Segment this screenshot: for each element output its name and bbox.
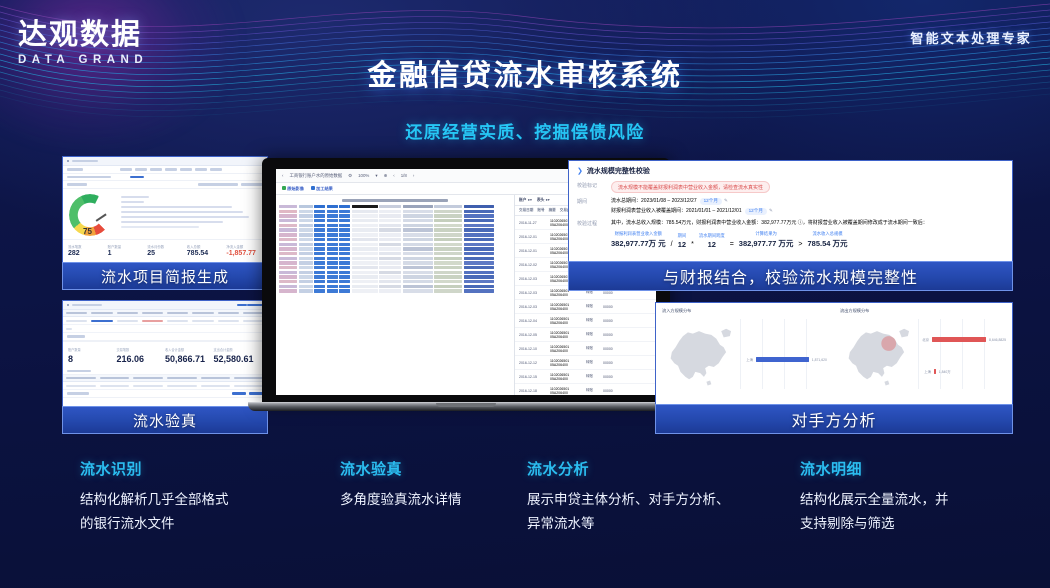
viewer-file-name: 工商银行账户水的原始数据 [289, 173, 342, 179]
metric-item: 收入合计金额50,866.71 [165, 347, 214, 364]
stat-label: 收入总额 [187, 244, 223, 249]
verify-section-heading [63, 333, 267, 341]
screenshot-integrity-dialog[interactable]: ❯ 流水规模完整性校验 校验标记 流水规模不能覆盖财报利润表中营业收入金额，请检… [568, 160, 1013, 263]
dialog-body: ❯ 流水规模完整性校验 校验标记 流水规模不能覆盖财报利润表中营业收入金额，请检… [569, 161, 1012, 262]
caption-brief-report: 流水项目简报生成 [62, 262, 268, 290]
formula-key: 流水期间跨度 [699, 233, 725, 239]
dialog-header: ❯ 流水规模完整性校验 [577, 166, 1004, 176]
bar-inflow [756, 357, 809, 362]
period-line-2: 财报利润表营业收入被覆盖期间：2021/01/01 – 2021/12/0112… [611, 207, 1004, 215]
bar-label: 上海 [918, 369, 931, 374]
validation-formula: 财报利润表营业收入金额382,977.77万 元 / 期间12 * 流水期间跨度… [577, 231, 1004, 250]
screenshot-counterparty-maps[interactable]: 流入方规模分布 上海 1,871,620 [655, 302, 1013, 406]
metric-value: 52,580.61 [214, 354, 263, 364]
dialog-row-process: 校验过程 其中，流水总收入规模：785.54万元，财报利润表中营业收入金额：38… [577, 219, 1004, 227]
verify-subsection-heading [63, 368, 267, 376]
field-label: 校验过程 [577, 219, 611, 227]
settings-icon[interactable]: ⚙ [348, 173, 352, 179]
tab-processed-result[interactable]: 加工结果 [311, 186, 333, 192]
brief-gauge-area: 75 [63, 189, 267, 236]
china-map-icon [662, 319, 736, 389]
slide-root: 达观数据 DATA GRAND 智能文本处理专家 金融信贷流水审核系统 还原经营… [0, 0, 1050, 588]
stat-value: 1 [108, 250, 144, 257]
verify-table-header [63, 310, 267, 317]
feature-title: 流水验真 [340, 458, 530, 479]
period-prefix: 财报利润表营业收入被覆盖期间： [611, 208, 686, 214]
stat-value: -1,857.77 [226, 250, 262, 257]
verify-table2-header [63, 375, 267, 382]
formula-value: 382,977.77万 元 [611, 238, 666, 249]
dialog-row-period: 期间 流水总期间：2023/01/08 – 2023/12/2712个月✎ 财报… [577, 197, 1004, 215]
table-row [63, 325, 267, 333]
stat-value: 25 [147, 250, 183, 257]
period-range: 2021/01/01 – 2021/12/01 [686, 208, 742, 214]
period-badge[interactable]: 12个月 [745, 208, 767, 215]
screenshot-brief-report[interactable]: 75 流水笔数282 账户数量1 流水月份数25 收入总额785.54 净流入金… [62, 156, 268, 264]
formula-operator: > [798, 241, 802, 249]
stat-value: 282 [68, 250, 104, 257]
formula-key: 计算结果为 [739, 231, 794, 237]
validation-warning-badge: 流水规模不能覆盖财报利润表中营业收入金额，请检查流水真实性 [611, 181, 770, 193]
bar-value: 8,646,8825 [989, 338, 1006, 342]
viewer-zoom-level[interactable]: 100% [358, 173, 369, 178]
formula-term: 流水期间跨度12 [699, 233, 725, 250]
zoom-dropdown-icon[interactable]: ▾ [375, 173, 377, 179]
prev-page-icon[interactable]: ‹ [393, 173, 394, 178]
bar-outflow [934, 369, 936, 374]
outflow-bar-chart: 北京 8,646,8825 上海 1,840万 [918, 319, 1006, 389]
formula-key: 财报利润表营业收入金额 [611, 231, 666, 237]
verify-metrics-row: 账户数量8 交易笔数216.06 收入合计金额50,866.71 支出合计金额5… [63, 341, 267, 368]
map-charts-container: 流入方规模分布 上海 1,871,620 [656, 303, 1012, 405]
chart-title: 流出方规模分布 [840, 308, 1006, 314]
brief-filter-row [63, 174, 267, 182]
bar-value: 1,840万 [939, 369, 951, 374]
formula-value: 382,977.77 万元 [739, 238, 794, 249]
formula-operator: / [671, 241, 673, 249]
formula-value: 785.54 万元 [808, 238, 848, 249]
metric-value: 50,866.71 [165, 354, 214, 364]
chart-title: 流入方规模分布 [662, 308, 828, 314]
list-item[interactable]: 2016-12-031102026501 05A206400转账00000 [515, 300, 656, 314]
document-preview[interactable] [276, 195, 515, 395]
dialog-title: 流水规模完整性校验 [587, 166, 650, 176]
feature-desc-line: 多角度验真流水详情 [340, 488, 530, 512]
metric-value: 216.06 [117, 354, 166, 364]
next-page-icon[interactable]: › [413, 173, 414, 178]
logo-chinese-name: 达观数据 [18, 20, 148, 50]
page-title: 金融信贷流水审核系统 [0, 52, 1050, 94]
expand-chevron-icon[interactable]: ❯ [577, 168, 583, 175]
brief-titlebar [63, 157, 267, 166]
col-summary: 摘要 [549, 208, 556, 213]
metric-item: 交易笔数216.06 [117, 347, 166, 364]
col-date: 交易日期 [519, 208, 533, 213]
inflow-bar-chart: 上海 1,871,620 [740, 319, 828, 389]
feature-desc-line: 展示申贷主体分析、对手方分析、 [527, 488, 762, 512]
period-prefix: 流水总期间： [611, 198, 641, 204]
dialog-row-flag: 校验标记 流水规模不能覆盖财报利润表中营业收入金额，请检查流水真实性 [577, 181, 1004, 193]
table-row [63, 317, 267, 325]
feature-column-analysis: 流水分析 展示申贷主体分析、对手方分析、 异常流水等 [527, 458, 762, 535]
filter-account[interactable]: 账户 ●▾ [519, 197, 532, 203]
caption-counterparty: 对手方分析 [655, 404, 1013, 434]
formula-term: 计算结果为382,977.77 万元 [739, 231, 794, 250]
caption-verify: 流水验真 [62, 406, 268, 434]
formula-operator: * [691, 241, 694, 249]
back-chevron-icon[interactable]: ‹ [282, 173, 283, 178]
metric-label: 支出合计金额 [214, 347, 263, 352]
period-line-1: 流水总期间：2023/01/08 – 2023/12/2712个月✎ [611, 197, 1004, 205]
edit-pencil-icon[interactable]: ✎ [724, 198, 728, 203]
tab-original-image[interactable]: 原始影像 [282, 186, 304, 192]
formula-operator: = [730, 241, 734, 249]
feature-desc-line: 结构化解析几乎全部格式 [80, 488, 290, 512]
viewer-page-indicator: 1/8 [401, 173, 407, 178]
verify-footer-row [63, 390, 267, 398]
titlebar-dot-icon [67, 160, 69, 162]
feature-column-recognition: 流水识别 结构化解析几乎全部格式 的银行流水文件 [80, 458, 290, 535]
formula-value: 12 [678, 240, 687, 249]
feature-column-detail: 流水明细 结构化展示全量流水，并 支持剔除与筛选 [800, 458, 1015, 535]
formula-term: 财报利润表营业收入金额382,977.77万 元 [611, 231, 666, 250]
china-map-icon [840, 319, 914, 389]
list-item[interactable]: 2016-12-151102026501 05A206400转账00000 [515, 370, 656, 384]
bar-outflow [932, 337, 986, 342]
validation-process-text: 其中，流水总收入规模：785.54万元，财报利润表中营业收入金额：382,977… [611, 219, 1004, 227]
stat-label: 流水笔数 [68, 244, 104, 249]
list-item[interactable]: 2016-12-121102026501 05A206400转账00000 [515, 356, 656, 370]
feature-title: 流水分析 [527, 458, 762, 479]
metric-value: 8 [68, 354, 117, 364]
list-item[interactable]: 2016-12-101102026501 05A206400转账00000 [515, 342, 656, 356]
brief-section-row [63, 181, 267, 189]
laptop-notch [436, 403, 496, 407]
stat-label: 净流入金额 [226, 244, 262, 249]
document-heading [342, 199, 449, 202]
edit-pencil-icon[interactable]: ✎ [769, 208, 773, 213]
table-row [63, 382, 267, 390]
feature-desc-line: 结构化展示全量流水，并 [800, 488, 1015, 512]
screenshot-verify[interactable]: 账户数量8 交易笔数216.06 收入合计金额50,866.71 支出合计金额5… [62, 300, 268, 408]
period-range: 2023/01/08 – 2023/12/27 [641, 198, 697, 204]
caption-integrity-dialog: 与财报结合，校验流水规模完整性 [568, 261, 1013, 291]
brief-stats-row: 流水笔数282 账户数量1 流水月份数25 收入总额785.54 净流入金额-1… [63, 239, 267, 257]
map-chart-outflow: 流出方规模分布 北京 8,646 [834, 303, 1012, 405]
list-item[interactable]: 2016-12-051102026501 05A206400转账00000 [515, 328, 656, 342]
feature-title: 流水识别 [80, 458, 290, 479]
stat-item: 流水月份数25 [147, 244, 183, 257]
bar-label: 北京 [918, 337, 929, 342]
stat-item: 收入总额785.54 [187, 244, 223, 257]
stat-label: 流水月份数 [147, 244, 183, 249]
metric-label: 收入合计金额 [165, 347, 214, 352]
bar-label: 上海 [740, 357, 753, 362]
stat-value: 785.54 [187, 250, 223, 257]
feature-desc-line: 异常流水等 [527, 512, 762, 536]
stat-item: 净流入金额-1,857.77 [226, 244, 262, 257]
brand-tagline: 智能文本处理专家 [910, 28, 1032, 47]
stat-label: 账户数量 [108, 244, 144, 249]
bar-value: 1,871,620 [812, 358, 827, 362]
formula-term: 期间12 [678, 233, 687, 250]
col-account: 账号 [537, 208, 544, 213]
page-subtitle: 还原经营实质、挖掘偿债风险 [0, 118, 1050, 143]
field-label: 校验标记 [577, 181, 611, 193]
feature-desc-line: 的银行流水文件 [80, 512, 290, 536]
feature-title: 流水明细 [800, 458, 1015, 479]
field-label: 期间 [577, 197, 611, 215]
brief-tab-row [63, 166, 267, 174]
map-chart-inflow: 流入方规模分布 上海 1,871,620 [656, 303, 834, 405]
metric-label: 交易笔数 [117, 347, 166, 352]
stat-item: 流水笔数282 [68, 244, 104, 257]
feature-desc-line: 支持剔除与筛选 [800, 512, 1015, 536]
gauge-value: 75 [83, 227, 92, 236]
metric-item: 账户数量8 [68, 347, 117, 364]
formula-key: 流水收入总规模 [808, 231, 848, 237]
metric-label: 账户数量 [68, 347, 117, 352]
feature-column-verification: 流水验真 多角度验真流水详情 [340, 458, 530, 512]
verify-titlebar [63, 301, 267, 310]
hotspot-marker [881, 336, 896, 351]
formula-term: 流水收入总规模785.54 万元 [808, 231, 848, 250]
list-item[interactable]: 2016-12-041102026501 05A206400转账00000 [515, 314, 656, 328]
period-badge[interactable]: 12个月 [700, 198, 722, 205]
titlebar-label-placeholder [72, 160, 98, 163]
stat-item: 账户数量1 [108, 244, 144, 257]
formula-key: 期间 [678, 233, 687, 239]
filter-header[interactable]: 表头 ●▾ [537, 197, 550, 203]
fit-icon[interactable]: ⊕ [384, 173, 388, 179]
metric-item: 支出合计金额52,580.61 [214, 347, 263, 364]
formula-value: 12 [699, 240, 725, 249]
list-item[interactable]: 2016-12-181102026501 05A206400转账00000 [515, 384, 656, 395]
brief-description-lines [121, 194, 263, 236]
